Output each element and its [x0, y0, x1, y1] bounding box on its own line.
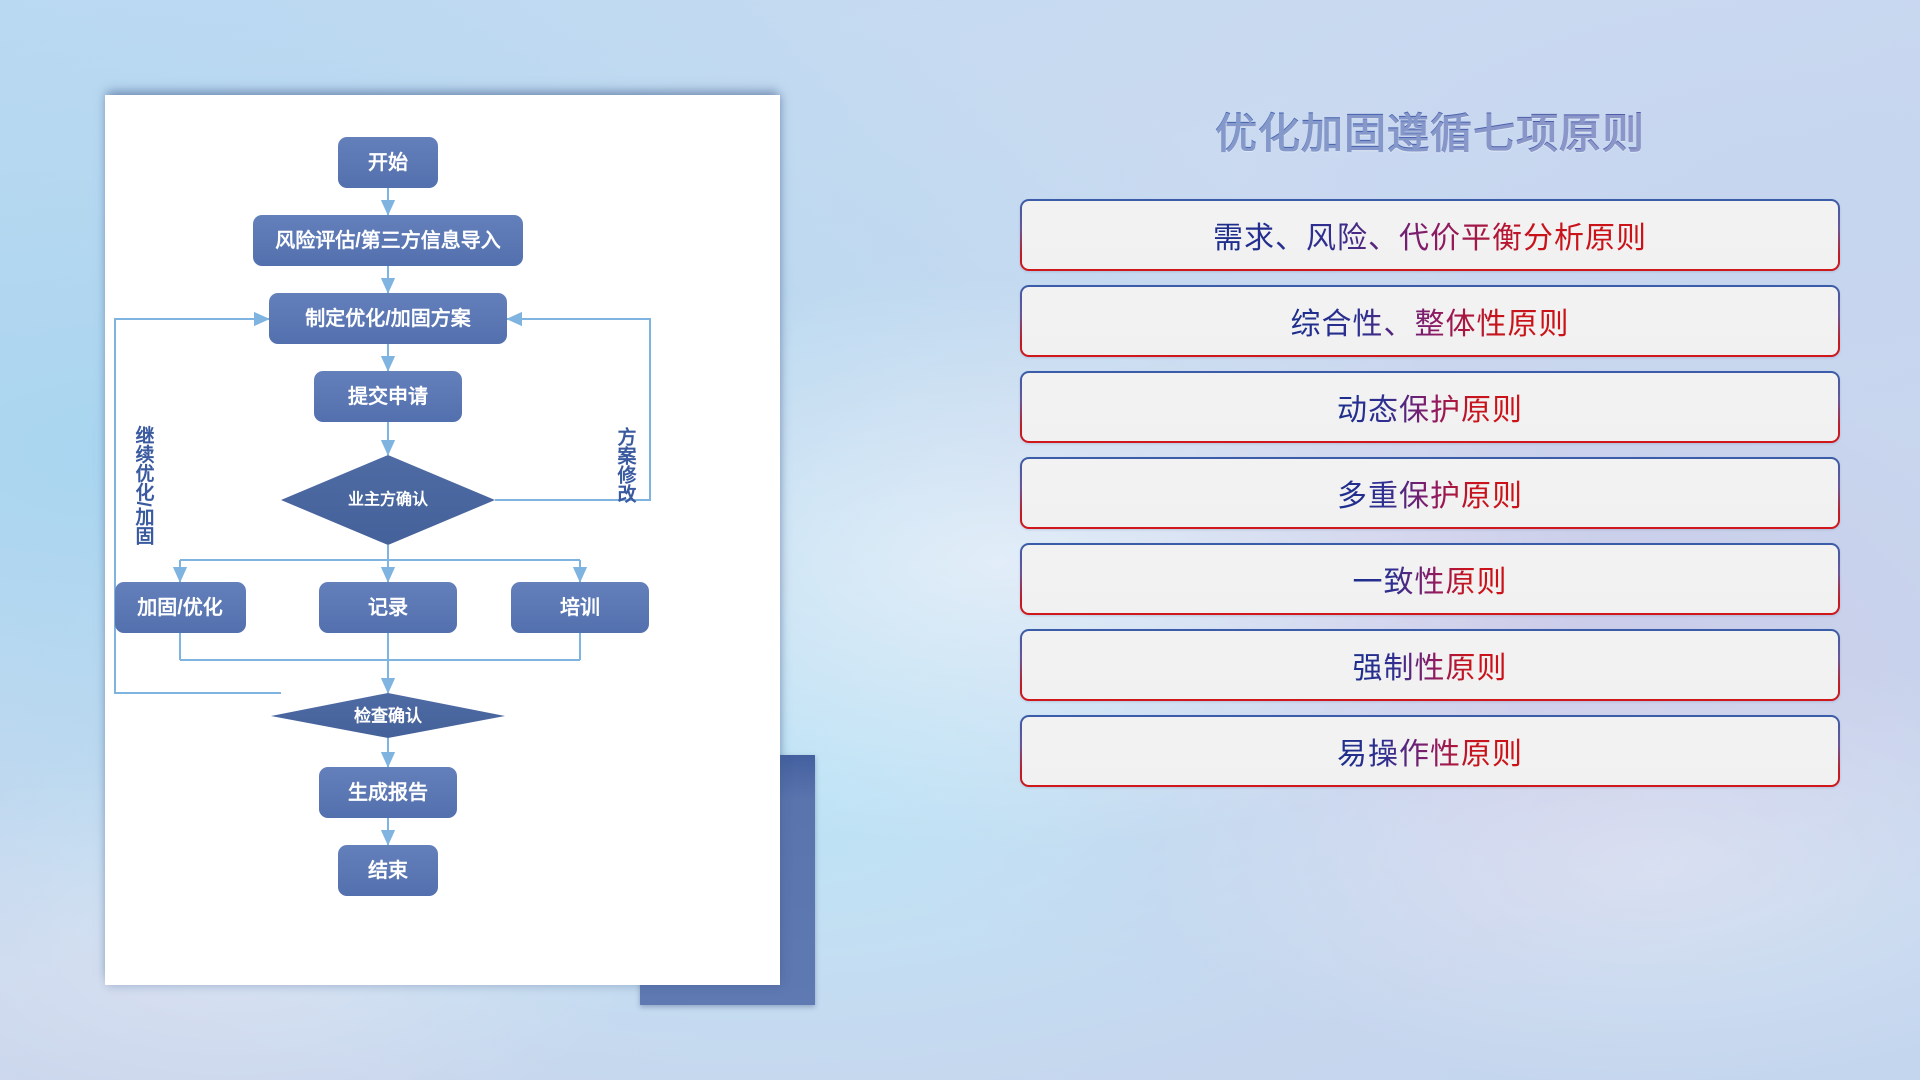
principle-label: 强制性原则 [1353, 643, 1508, 687]
flow-node-training[interactable]: 培训 [511, 582, 649, 633]
flow-node-check-confirm-label: 检查确认 [354, 706, 423, 726]
principle-label: 动态保护原则 [1337, 385, 1523, 429]
principle-label: 需求、风险、代价平衡分析原则 [1213, 213, 1647, 257]
flow-node-owner-confirm-label: 业主方确认 [348, 490, 429, 509]
principle-label: 多重保护原则 [1337, 471, 1523, 515]
flow-node-owner-confirm[interactable]: 业主方确认 [281, 455, 495, 545]
principle-item[interactable]: 多重保护原则 [1020, 457, 1840, 529]
flow-node-risk-assessment-label: 风险评估/第三方信息导入 [275, 228, 501, 252]
principle-label: 一致性原则 [1353, 557, 1508, 601]
flow-node-start-label: 开始 [368, 150, 408, 174]
flow-node-submit-label: 提交申请 [348, 384, 428, 408]
flow-node-plan[interactable]: 制定优化/加固方案 [269, 293, 507, 344]
principle-item[interactable]: 需求、风险、代价平衡分析原则 [1020, 199, 1840, 271]
flow-node-reinforce[interactable]: 加固/优化 [115, 582, 246, 633]
edge-label-plan-revision: 方案修改 [615, 426, 638, 504]
flowchart-card: 开始 风险评估/第三方信息导入 制定优化/加固方案 提交申请 业主方确认 加固/… [105, 95, 780, 985]
flow-node-submit[interactable]: 提交申请 [314, 371, 462, 422]
flow-node-risk-assessment[interactable]: 风险评估/第三方信息导入 [253, 215, 523, 266]
flow-node-reinforce-label: 加固/优化 [136, 595, 223, 619]
edge-label-continue-optimize: 继续优化/加固 [133, 424, 156, 545]
principle-label: 综合性、整体性原则 [1291, 299, 1570, 343]
principle-item[interactable]: 一致性原则 [1020, 543, 1840, 615]
principle-item[interactable]: 综合性、整体性原则 [1020, 285, 1840, 357]
flowchart-diagram: 开始 风险评估/第三方信息导入 制定优化/加固方案 提交申请 业主方确认 加固/… [105, 95, 780, 985]
flow-node-training-label: 培训 [560, 595, 600, 619]
flow-node-end[interactable]: 结束 [338, 845, 438, 896]
flow-node-plan-label: 制定优化/加固方案 [305, 306, 472, 330]
principle-label: 易操作性原则 [1337, 729, 1523, 773]
flow-node-record-label: 记录 [368, 596, 408, 619]
principle-list: 需求、风险、代价平衡分析原则 综合性、整体性原则 动态保护原则 多重保护原则 一… [1020, 199, 1840, 787]
principle-item[interactable]: 动态保护原则 [1020, 371, 1840, 443]
flow-node-report-label: 生成报告 [348, 780, 428, 804]
principles-panel: 优化加固遵循七项原则 需求、风险、代价平衡分析原则 综合性、整体性原则 动态保护… [1020, 100, 1840, 1000]
flow-node-check-confirm[interactable]: 检查确认 [271, 693, 505, 738]
flow-node-record[interactable]: 记录 [319, 582, 457, 633]
panel-title: 优化加固遵循七项原则 [1020, 100, 1840, 161]
principle-item[interactable]: 强制性原则 [1020, 629, 1840, 701]
flow-node-start[interactable]: 开始 [338, 137, 438, 188]
flow-node-report[interactable]: 生成报告 [319, 767, 457, 818]
flow-node-end-label: 结束 [368, 858, 409, 882]
principle-item[interactable]: 易操作性原则 [1020, 715, 1840, 787]
